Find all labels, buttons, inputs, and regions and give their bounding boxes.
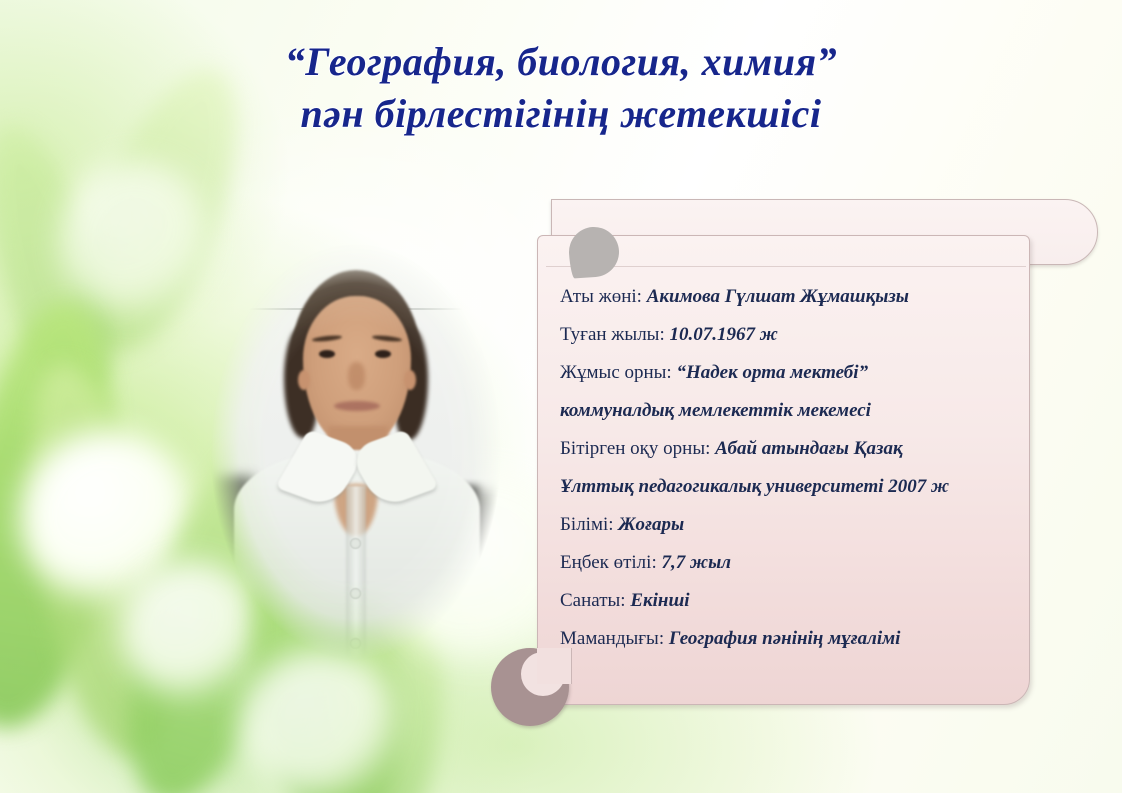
info-value: Жоғары <box>618 514 684 535</box>
info-label: Білімі: <box>560 514 614 535</box>
info-row: Бітірген оқу орны: Абай атындағы Қазақ <box>560 430 1030 468</box>
info-row: Туған жылы: 10.07.1967 ж <box>560 316 1030 354</box>
info-value: 7,7 жыл <box>661 552 731 573</box>
background-flower <box>60 160 210 320</box>
info-value: Абай атындағы Қазақ <box>715 438 903 459</box>
info-label: Мамандығы: <box>560 628 664 649</box>
info-label: Еңбек өтілі: <box>560 552 657 573</box>
portrait-mouth <box>334 401 380 411</box>
info-row: Еңбек өтілі: 7,7 жыл <box>560 544 1030 582</box>
info-label: Туған жылы: <box>560 324 665 345</box>
info-label: Санаты: <box>560 590 626 611</box>
portrait-ear-right <box>404 370 416 390</box>
info-label: Жұмыс орны: <box>560 362 672 383</box>
info-row: Жұмыс орны: “Надек орта мектебі” <box>560 354 1030 392</box>
portrait-nose <box>348 362 365 390</box>
slide-title: “География, биология, химия” пән бірлест… <box>0 36 1122 140</box>
info-label: Бітірген оқу орны: <box>560 438 710 459</box>
portrait-ear-left <box>298 370 310 390</box>
portrait-shirt-button <box>350 538 361 549</box>
info-label: Аты жөні: <box>560 286 642 307</box>
info-value-continuation: коммуналдық мемлекеттік мекемесі <box>560 392 1030 430</box>
info-row: Мамандығы: География пәнінің мұғалімі <box>560 620 1030 658</box>
info-card-divider <box>546 266 1026 267</box>
info-value: География пәнінің мұғалімі <box>669 628 901 649</box>
info-row: Білімі: Жоғары <box>560 506 1030 544</box>
info-value: 10.07.1967 ж <box>669 324 777 345</box>
portrait-shirt-button <box>350 638 361 649</box>
portrait-shirt-button <box>350 588 361 599</box>
info-value: “Надек орта мектебі” <box>676 362 868 383</box>
info-value-continuation: Ұлттық педагогикалық университеті 2007 ж <box>560 468 1030 506</box>
portrait-eye-left <box>319 350 335 358</box>
slide-root: “География, биология, химия” пән бірлест… <box>0 0 1122 793</box>
info-value: Екінші <box>630 590 689 611</box>
background-flower <box>240 650 400 793</box>
info-value: Акимова Гүлшат Жұмашқызы <box>647 286 909 307</box>
info-row: Санаты: Екінші <box>560 582 1030 620</box>
info-row: Аты жөні: Акимова Гүлшат Жұмашқызы <box>560 278 1030 316</box>
teacher-info-list: Аты жөні: Акимова Гүлшат ЖұмашқызыТуған … <box>560 278 1030 658</box>
scroll-curl-bottom-icon <box>491 648 569 726</box>
portrait-eye-right <box>375 350 391 358</box>
teacher-portrait-photo <box>206 236 506 666</box>
